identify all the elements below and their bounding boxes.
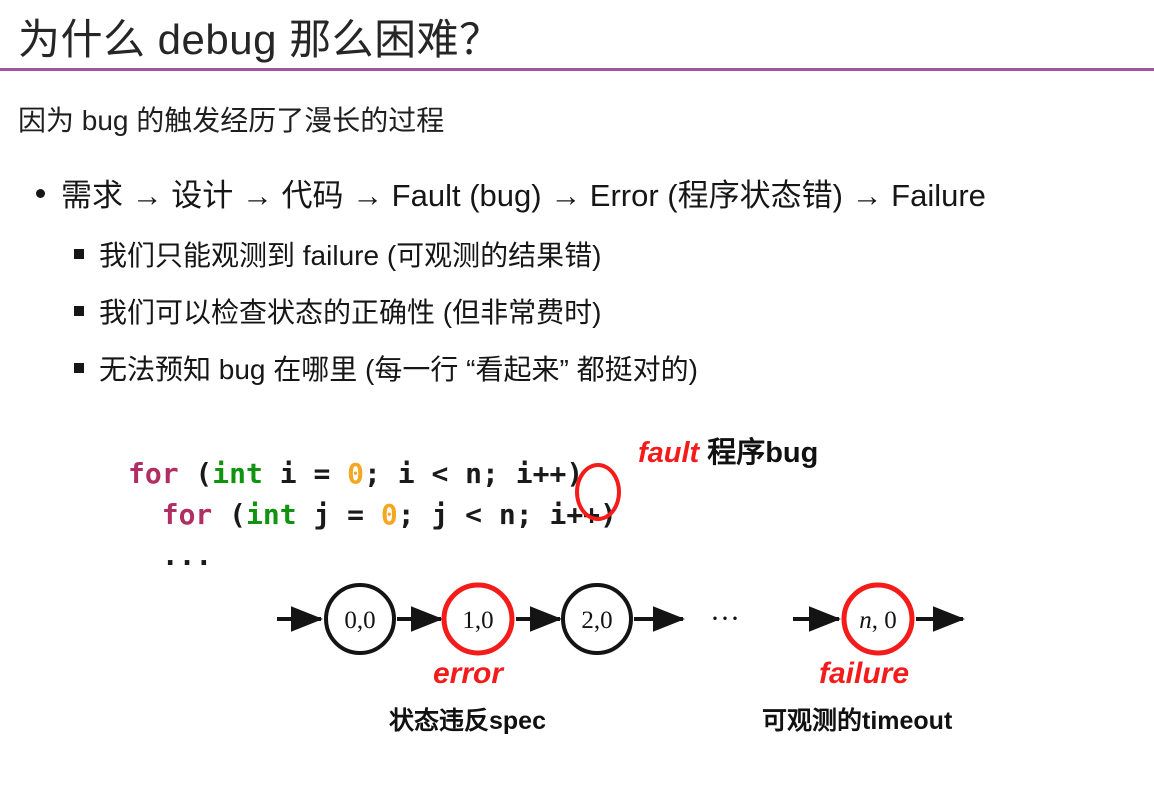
state-node-2-label: 2,0 xyxy=(581,607,612,634)
title-divider xyxy=(0,68,1154,71)
state-node-0-label: 0,0 xyxy=(344,607,375,634)
bullet-square-icon xyxy=(74,363,84,373)
failure-caption: 可观测的timeout xyxy=(762,701,952,737)
code-line: for (int i = 0; i < n; i++) xyxy=(128,457,583,490)
code-token: ... xyxy=(162,539,213,572)
failure-annotation: failure xyxy=(819,657,909,691)
code-token: i = xyxy=(263,457,347,490)
code-token: ( xyxy=(212,498,246,531)
code-token: int xyxy=(246,498,297,531)
bullet-level2-label: 我们只能观测到 failure (可观测的结果错) xyxy=(99,234,601,274)
page-title: 为什么 debug 那么困难？ xyxy=(18,6,502,67)
bullet-dot-icon xyxy=(36,189,45,198)
bullet-level2-item-2: 我们可以检查状态的正确性 (但非常费时) xyxy=(74,291,601,331)
fault-annotation: fault程序bug xyxy=(638,429,818,471)
diagram-ellipsis: ··· xyxy=(710,602,740,635)
state-diagram: 0,0 1,0 2,0 ··· n, 0 xyxy=(255,560,1015,670)
code-token: ( xyxy=(179,457,213,490)
code-line: ... xyxy=(128,539,212,572)
code-token: 0 xyxy=(347,457,364,490)
code-token: int xyxy=(212,457,263,490)
bullet-level1-label: 需求 → 设计 → 代码 → Fault (bug) → Error (程序状态… xyxy=(61,170,986,215)
code-token: ; i < n; i++) xyxy=(364,457,583,490)
bullet-level1: 需求 → 设计 → 代码 → Fault (bug) → Error (程序状态… xyxy=(36,170,986,215)
bullet-level2-item-1: 我们只能观测到 failure (可观测的结果错) xyxy=(74,234,601,274)
error-annotation: error xyxy=(433,657,503,691)
bullet-level2-item-3: 无法预知 bug 在哪里 (每一行 “看起来” 都挺对的) xyxy=(74,348,698,388)
code-token: 0 xyxy=(381,498,398,531)
code-highlight-ellipse-icon xyxy=(575,463,621,521)
code-token: for xyxy=(162,498,213,531)
state-node-1-label: 1,0 xyxy=(462,607,493,634)
fault-label: fault xyxy=(638,437,699,469)
code-block: for (int i = 0; i < n; i++) for (int j =… xyxy=(128,454,617,577)
state-node-n-label: n, 0 xyxy=(859,607,897,634)
bullet-level2-label: 无法预知 bug 在哪里 (每一行 “看起来” 都挺对的) xyxy=(99,348,698,388)
error-caption: 状态违反spec xyxy=(389,701,546,737)
bullet-square-icon xyxy=(74,249,84,259)
lead-text: 因为 bug 的触发经历了漫长的过程 xyxy=(18,99,444,139)
bullet-square-icon xyxy=(74,306,84,316)
bullet-level2-label: 我们可以检查状态的正确性 (但非常费时) xyxy=(99,291,601,331)
fault-note-label: 程序bug xyxy=(707,437,818,469)
code-token: j = xyxy=(297,498,381,531)
code-token: for xyxy=(128,457,179,490)
code-line: for (int j = 0; j < n; i++) xyxy=(128,498,617,531)
